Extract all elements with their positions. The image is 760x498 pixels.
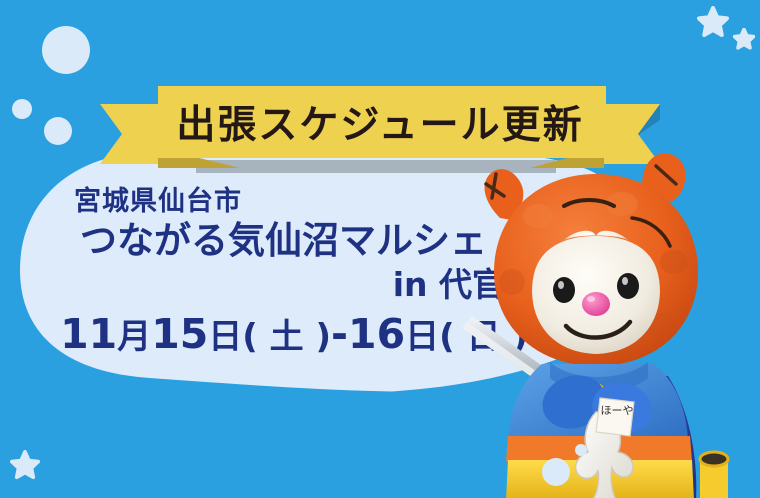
- star-decoration: [10, 450, 40, 480]
- date-start-weekday: ( 土 ): [242, 317, 331, 357]
- mascot-eye-left: [553, 277, 575, 303]
- date-month-number: 11: [60, 310, 117, 358]
- date-start-day-number: 15: [151, 310, 208, 358]
- mascot-tag: ほーや: [596, 398, 634, 436]
- mascot-tag-text: ほーや: [601, 404, 634, 417]
- mascot-character: ほーや: [446, 140, 760, 498]
- event-banner: 出張スケジュール更新 宮城県仙台市 つながる気仙沼マルシェ in 代官山 11月…: [0, 0, 760, 498]
- mascot-nose: [582, 292, 610, 316]
- mascot-eye-right: [617, 273, 639, 299]
- bubble-decoration: [12, 99, 32, 119]
- date-month-unit: 月: [117, 317, 151, 357]
- bubble-decoration: [44, 117, 72, 145]
- mascot-head: [485, 153, 698, 366]
- date-separator: -: [331, 310, 348, 358]
- date-end-day-number: 16: [348, 310, 405, 358]
- star-decoration: [733, 28, 755, 50]
- bubble-decoration: [542, 458, 570, 486]
- star-decoration: [697, 6, 729, 38]
- bubble-decoration: [575, 444, 587, 456]
- date-end-day-unit: 日: [405, 317, 439, 357]
- bubble-decoration: [42, 26, 90, 74]
- yellow-pouch-icon: [700, 452, 728, 498]
- date-start-day-unit: 日: [208, 317, 242, 357]
